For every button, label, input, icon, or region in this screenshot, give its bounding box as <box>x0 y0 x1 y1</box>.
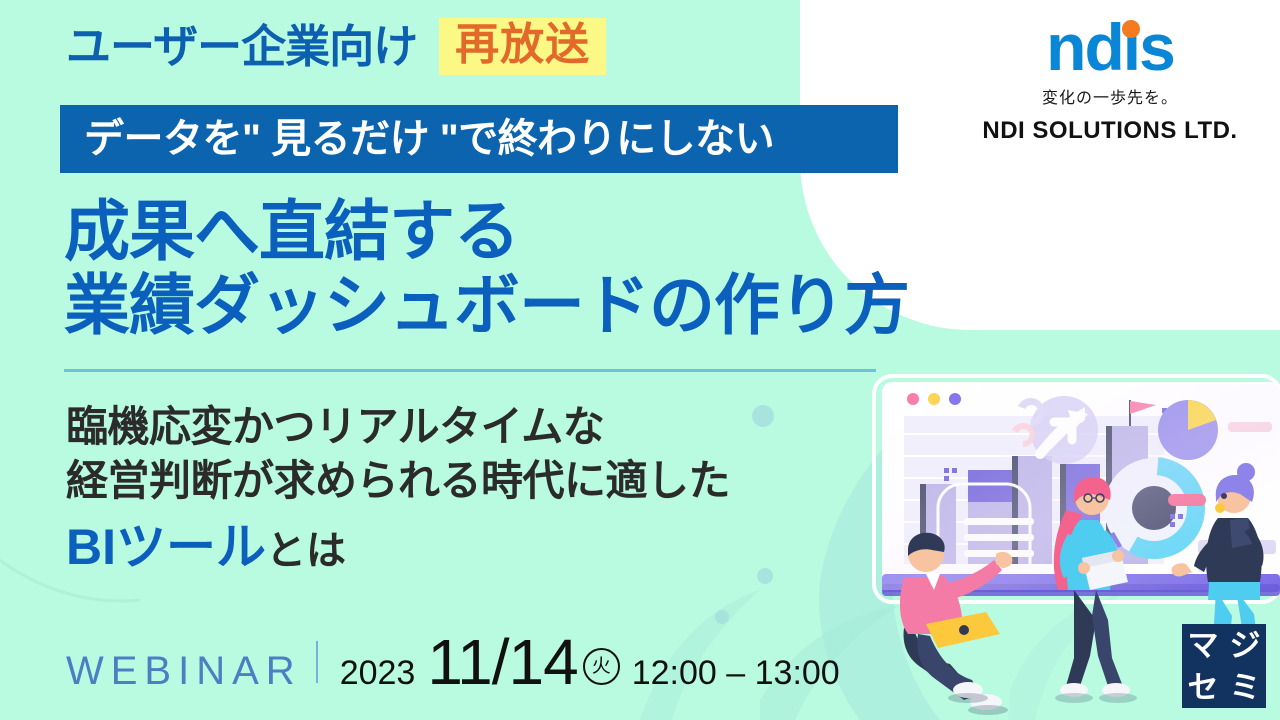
event-datetime-row: WEBINAR 2023 11/14 火 12:00 – 13:00 <box>66 630 840 694</box>
majisemi-char-1: マ <box>1188 630 1219 661</box>
subtitle-line-1: 臨機応変かつリアルタイムな <box>66 400 730 454</box>
kicker-row: ユーザー企業向け 再放送 <box>66 18 606 75</box>
majisemi-char-3: セ <box>1188 672 1219 703</box>
kicker-text: ユーザー企業向け <box>66 24 417 69</box>
ndis-wordmark-text: ndis <box>1046 10 1174 84</box>
event-time: 12:00 – 13:00 <box>632 656 840 690</box>
headline-blue-bar: データを" 見るだけ "で終わりにしない <box>60 105 898 173</box>
subtitle-line-2: 経営判断が求められる時代に適した <box>66 454 730 508</box>
event-year: 2023 <box>340 656 416 690</box>
rebroadcast-badge: 再放送 <box>439 18 606 75</box>
decor-dot <box>757 568 773 584</box>
divider <box>64 369 876 372</box>
majisemi-char-4: ミ <box>1230 672 1261 703</box>
headline-blue-bar-text: データを" 見るだけ "で終わりにしない <box>84 119 774 159</box>
event-date: 11/14 <box>427 630 577 694</box>
separator <box>316 641 318 683</box>
subtitle-highlight-line: BIツールとは <box>66 522 730 572</box>
page-title: 成果へ直結する 業績ダッシュボードの作り方 <box>64 195 909 343</box>
logo-tagline: 変化の一歩先を。 <box>970 84 1250 108</box>
event-weekday-badge: 火 <box>583 648 620 685</box>
logo-orange-dot-icon <box>1122 20 1140 38</box>
majisemi-badge: マ ジ セ ミ <box>1182 624 1266 708</box>
title-line-2: 業績ダッシュボードの作り方 <box>64 269 909 343</box>
ndis-logo: ndis 変化の一歩先を。 NDI SOLUTIONS LTD. <box>970 14 1250 145</box>
logo-company-name: NDI SOLUTIONS LTD. <box>970 117 1250 145</box>
decor-dot <box>752 405 774 427</box>
subtitle-block: 臨機応変かつリアルタイムな 経営判断が求められる時代に適した BIツールとは <box>66 400 730 572</box>
majisemi-char-2: ジ <box>1230 630 1261 661</box>
webinar-poster: ユーザー企業向け 再放送 データを" 見るだけ "で終わりにしない 成果へ直結す… <box>0 0 1280 720</box>
webinar-label: WEBINAR <box>66 651 302 691</box>
ndis-wordmark: ndis <box>1046 14 1174 80</box>
bi-tool-highlight: BIツール <box>66 519 266 575</box>
decor-dot <box>715 610 729 624</box>
bi-tool-suffix: とは <box>266 529 346 573</box>
title-line-1: 成果へ直結する <box>64 195 909 269</box>
